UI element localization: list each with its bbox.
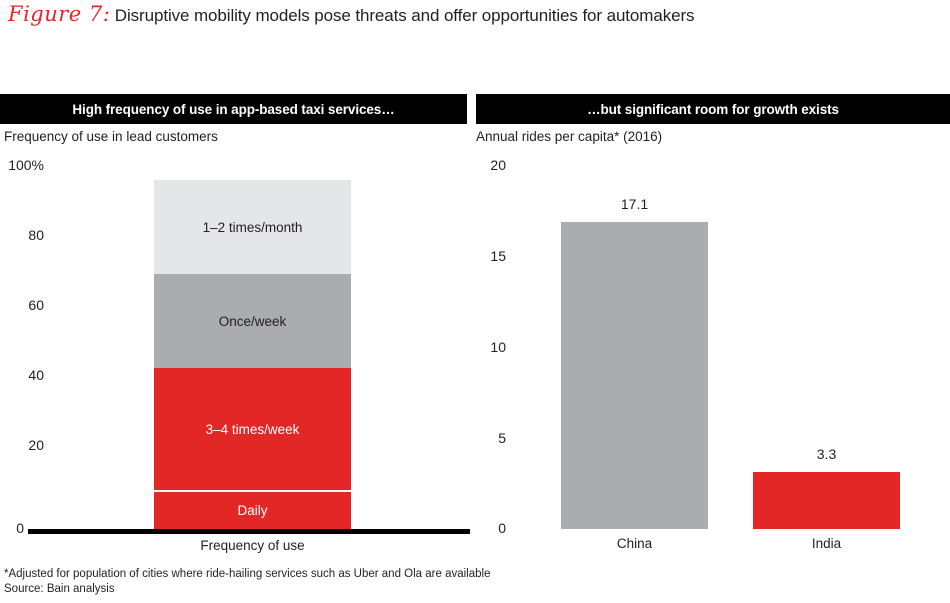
ytick-left-0: 0 (0, 520, 24, 536)
stacked-bar-plot-area: 100% 80 60 40 20 0 1–2 times/month Once/… (0, 124, 470, 564)
bar-india[interactable] (753, 472, 900, 529)
figure-number-label: Figure 7: (8, 2, 110, 26)
bar-segment-label-1-2-times-month: 1–2 times/month (203, 220, 303, 235)
bar-segment-label-3-4-times-week: 3–4 times/week (206, 422, 300, 437)
bar-segment-label-once-week: Once/week (219, 314, 287, 329)
bar-value-china: 17.1 (561, 196, 708, 212)
ytick-left-100: 100% (0, 157, 44, 173)
bar-segment-1-2-times-month[interactable]: 1–2 times/month (154, 180, 351, 274)
ytick-right-0: 0 (470, 520, 506, 536)
ytick-left-20: 20 (0, 437, 44, 453)
ytick-right-10: 10 (470, 339, 506, 355)
x-axis-baseline-left (28, 529, 470, 534)
footnote-source: Source: Bain analysis (4, 582, 704, 597)
ytick-right-15: 15 (470, 248, 506, 264)
bar-value-india: 3.3 (753, 446, 900, 462)
ytick-left-40: 40 (0, 367, 44, 383)
panel-header-right: …but significant room for growth exists (476, 94, 950, 124)
bar-segment-daily[interactable]: Daily (154, 490, 351, 529)
figure-title: Figure 7: Disruptive mobility models pos… (8, 2, 938, 34)
bar-segment-label-daily: Daily (237, 503, 267, 518)
ytick-right-5: 5 (470, 430, 506, 446)
x-axis-title-left: Frequency of use (154, 538, 351, 553)
bar-segment-3-4-times-week[interactable]: 3–4 times/week (154, 368, 351, 490)
x-category-label-china: China (561, 536, 708, 551)
chart-panel-left: Frequency of use in lead customers 100% … (0, 124, 470, 564)
footnote-asterisk: *Adjusted for population of cities where… (4, 567, 704, 582)
panel-header-right-text: …but significant room for growth exists (587, 102, 839, 117)
ytick-left-80: 80 (0, 227, 44, 243)
stacked-bar[interactable]: 1–2 times/month Once/week 3–4 times/week… (154, 180, 351, 529)
panel-header-left: High frequency of use in app-based taxi … (0, 94, 467, 124)
column-bar-plot-area: 20 15 10 5 0 17.1 China 3.3 India (470, 124, 950, 564)
ytick-right-20: 20 (470, 157, 506, 173)
panel-header-left-text: High frequency of use in app-based taxi … (72, 102, 394, 117)
chart-panel-right: Annual rides per capita* (2016) 20 15 10… (470, 124, 950, 564)
x-category-label-india: India (753, 536, 900, 551)
bar-segment-once-week[interactable]: Once/week (154, 274, 351, 368)
footnotes: *Adjusted for population of cities where… (4, 567, 704, 597)
ytick-left-60: 60 (0, 297, 44, 313)
figure-title-text: Disruptive mobility models pose threats … (115, 6, 695, 25)
bar-china[interactable] (561, 222, 708, 529)
